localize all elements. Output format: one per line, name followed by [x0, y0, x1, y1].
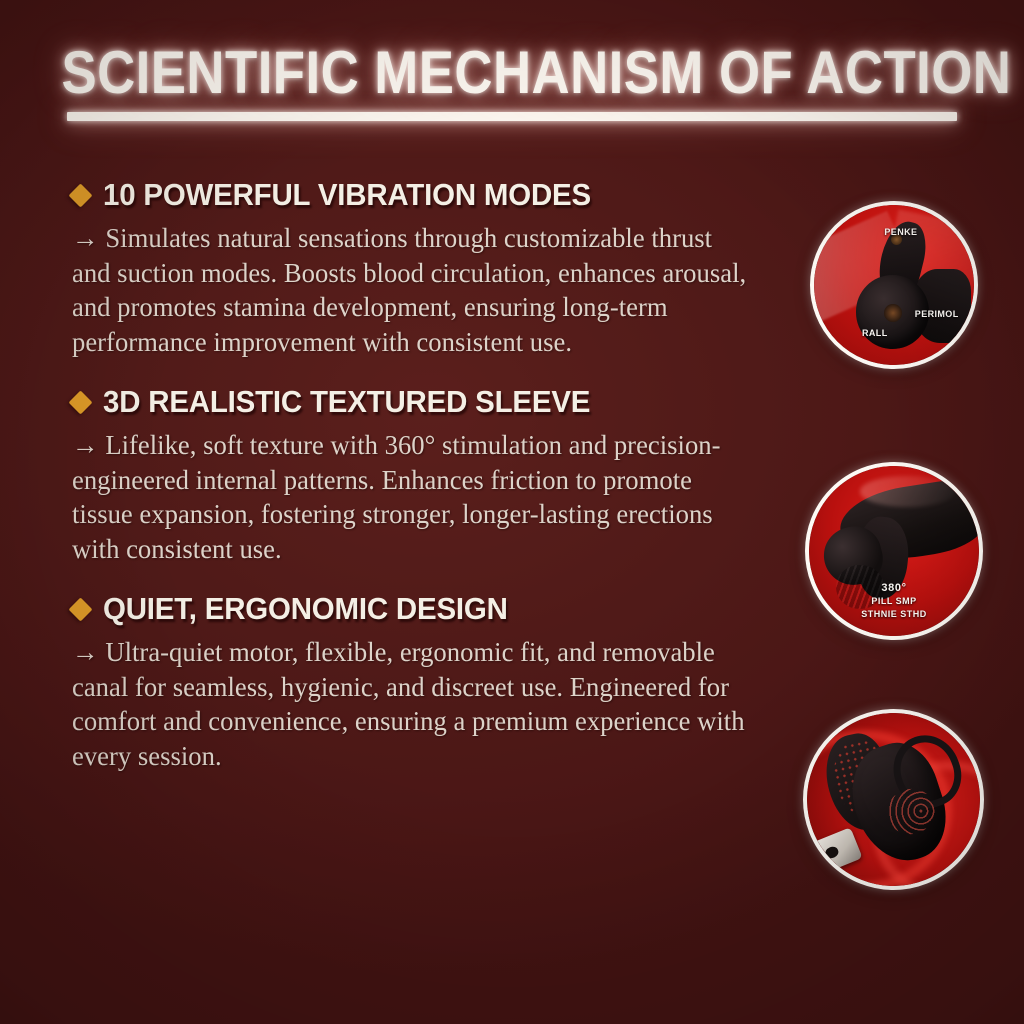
diamond-bullet-icon	[68, 183, 92, 207]
photo-caption-line2: PILL SMP	[809, 595, 979, 608]
feature-item: 10 POWERFUL VIBRATION MODES → Simulates …	[72, 178, 772, 359]
feature-title: 10 POWERFUL VIBRATION MODES	[103, 178, 591, 212]
feature-list: 10 POWERFUL VIBRATION MODES → Simulates …	[72, 178, 772, 773]
feature-title: 3D REALISTIC TEXTURED SLEEVE	[103, 385, 590, 419]
product-photo-textured-sleeve: 380° PILL SMP STHNIE STHD	[805, 462, 983, 640]
arrow-right-icon: →	[72, 429, 99, 460]
arrow-right-icon: →	[72, 222, 99, 253]
page-title: SCIENTIFIC MECHANISM OF ACTION	[61, 42, 962, 104]
feature-body: → Simulates natural sensations through c…	[72, 221, 751, 359]
title-block: SCIENTIFIC MECHANISM OF ACTION	[0, 42, 1024, 121]
feature-body-text: Ultra-quiet motor, flexible, ergonomic f…	[72, 636, 745, 771]
feature-body: → Lifelike, soft texture with 360° stimu…	[72, 428, 751, 566]
feature-item: 3D REALISTIC TEXTURED SLEEVE → Lifelike,…	[72, 385, 772, 566]
product-hub-shape	[884, 304, 902, 322]
feature-body-text: Simulates natural sensations through cus…	[72, 222, 746, 357]
photo-label-right: PERIMOL	[915, 309, 959, 319]
feature-item: QUIET, ERGONOMIC DESIGN → Ultra-quiet mo…	[72, 592, 772, 773]
photo-label-top: PENKE	[884, 227, 917, 237]
feature-heading-row: QUIET, ERGONOMIC DESIGN	[72, 592, 772, 626]
feature-title: QUIET, ERGONOMIC DESIGN	[103, 592, 508, 626]
feature-heading-row: 3D REALISTIC TEXTURED SLEEVE	[72, 385, 772, 419]
photo-caption-line3: STHNIE STHD	[809, 608, 979, 621]
photo-inner	[807, 713, 980, 886]
photo-caption: 380° PILL SMP STHNIE STHD	[809, 582, 979, 621]
product-photo-ergonomic-sleeve	[803, 709, 984, 890]
feature-heading-row: 10 POWERFUL VIBRATION MODES	[72, 178, 772, 212]
product-photo-vibration-motor: PENKE RALL PERIMOL	[810, 201, 978, 369]
photo-inner: 380° PILL SMP STHNIE STHD	[809, 466, 979, 636]
remote-button-icon	[824, 845, 839, 859]
photo-inner: PENKE RALL PERIMOL	[814, 205, 974, 365]
photo-highlight-shape	[860, 476, 955, 507]
feature-body: → Ultra-quiet motor, flexible, ergonomic…	[72, 635, 751, 773]
diamond-bullet-icon	[68, 390, 92, 414]
infographic-poster: SCIENTIFIC MECHANISM OF ACTION 10 POWERF…	[0, 0, 1024, 1024]
photo-label-bottom: RALL	[862, 328, 888, 338]
diamond-bullet-icon	[68, 597, 92, 621]
feature-body-text: Lifelike, soft texture with 360° stimula…	[72, 429, 721, 564]
photo-caption-degrees: 380°	[881, 582, 906, 594]
title-underline-rule	[67, 112, 957, 121]
arrow-right-icon: →	[72, 636, 99, 667]
